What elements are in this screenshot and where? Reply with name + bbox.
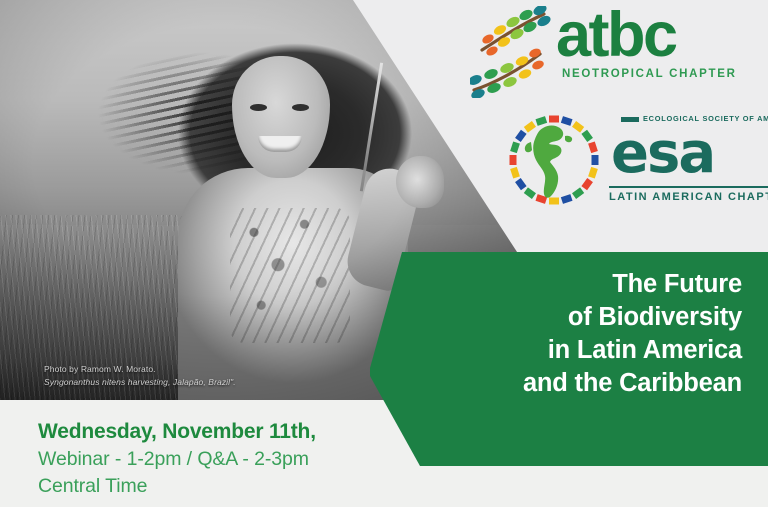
photo-credit-location: harvesting, Jalapão, Brazil". (125, 377, 235, 387)
atbc-leaf-branch-icon (470, 6, 562, 98)
americas-map-shape (525, 125, 572, 197)
event-date: Wednesday, November 11th, (38, 418, 316, 446)
photo-credit-line-1: Photo by Ramom W. Morato. (44, 363, 236, 375)
title-line-2: of Biodiversity (412, 301, 742, 334)
event-timezone: Central Time (38, 473, 316, 500)
title-line-3: in Latin America (412, 334, 742, 367)
title-line-1: The Future (412, 268, 742, 301)
esa-wordmark: esa (611, 126, 714, 182)
webinar-poster: Photo by Ramom W. Morato. Syngonanthus n… (0, 0, 768, 507)
atbc-logo[interactable]: atbc NEOTROPICAL CHAPTER (470, 6, 760, 102)
event-schedule: Webinar - 1-2pm / Q&A - 2-3pm (38, 446, 316, 473)
event-details: Wednesday, November 11th, Webinar - 1-2p… (38, 418, 316, 500)
photo-credit-line-2: Syngonanthus nitens harvesting, Jalapão,… (44, 376, 236, 388)
photo-credit-species: Syngonanthus nitens (44, 377, 125, 387)
photo-credit: Photo by Ramom W. Morato. Syngonanthus n… (44, 363, 236, 388)
esa-flags-globe-icon (505, 112, 603, 208)
esa-logo[interactable]: ECOLOGICAL SOCIETY OF AMERICA esa LATIN … (505, 112, 763, 208)
title-line-4: and the Caribbean (412, 367, 742, 400)
esa-bottom-text: LATIN AMERICAN CHAPTER (609, 186, 768, 203)
atbc-wordmark: atbc (556, 4, 676, 67)
atbc-subtitle: NEOTROPICAL CHAPTER (562, 68, 737, 80)
page-title: The Future of Biodiversity in Latin Amer… (412, 268, 742, 401)
